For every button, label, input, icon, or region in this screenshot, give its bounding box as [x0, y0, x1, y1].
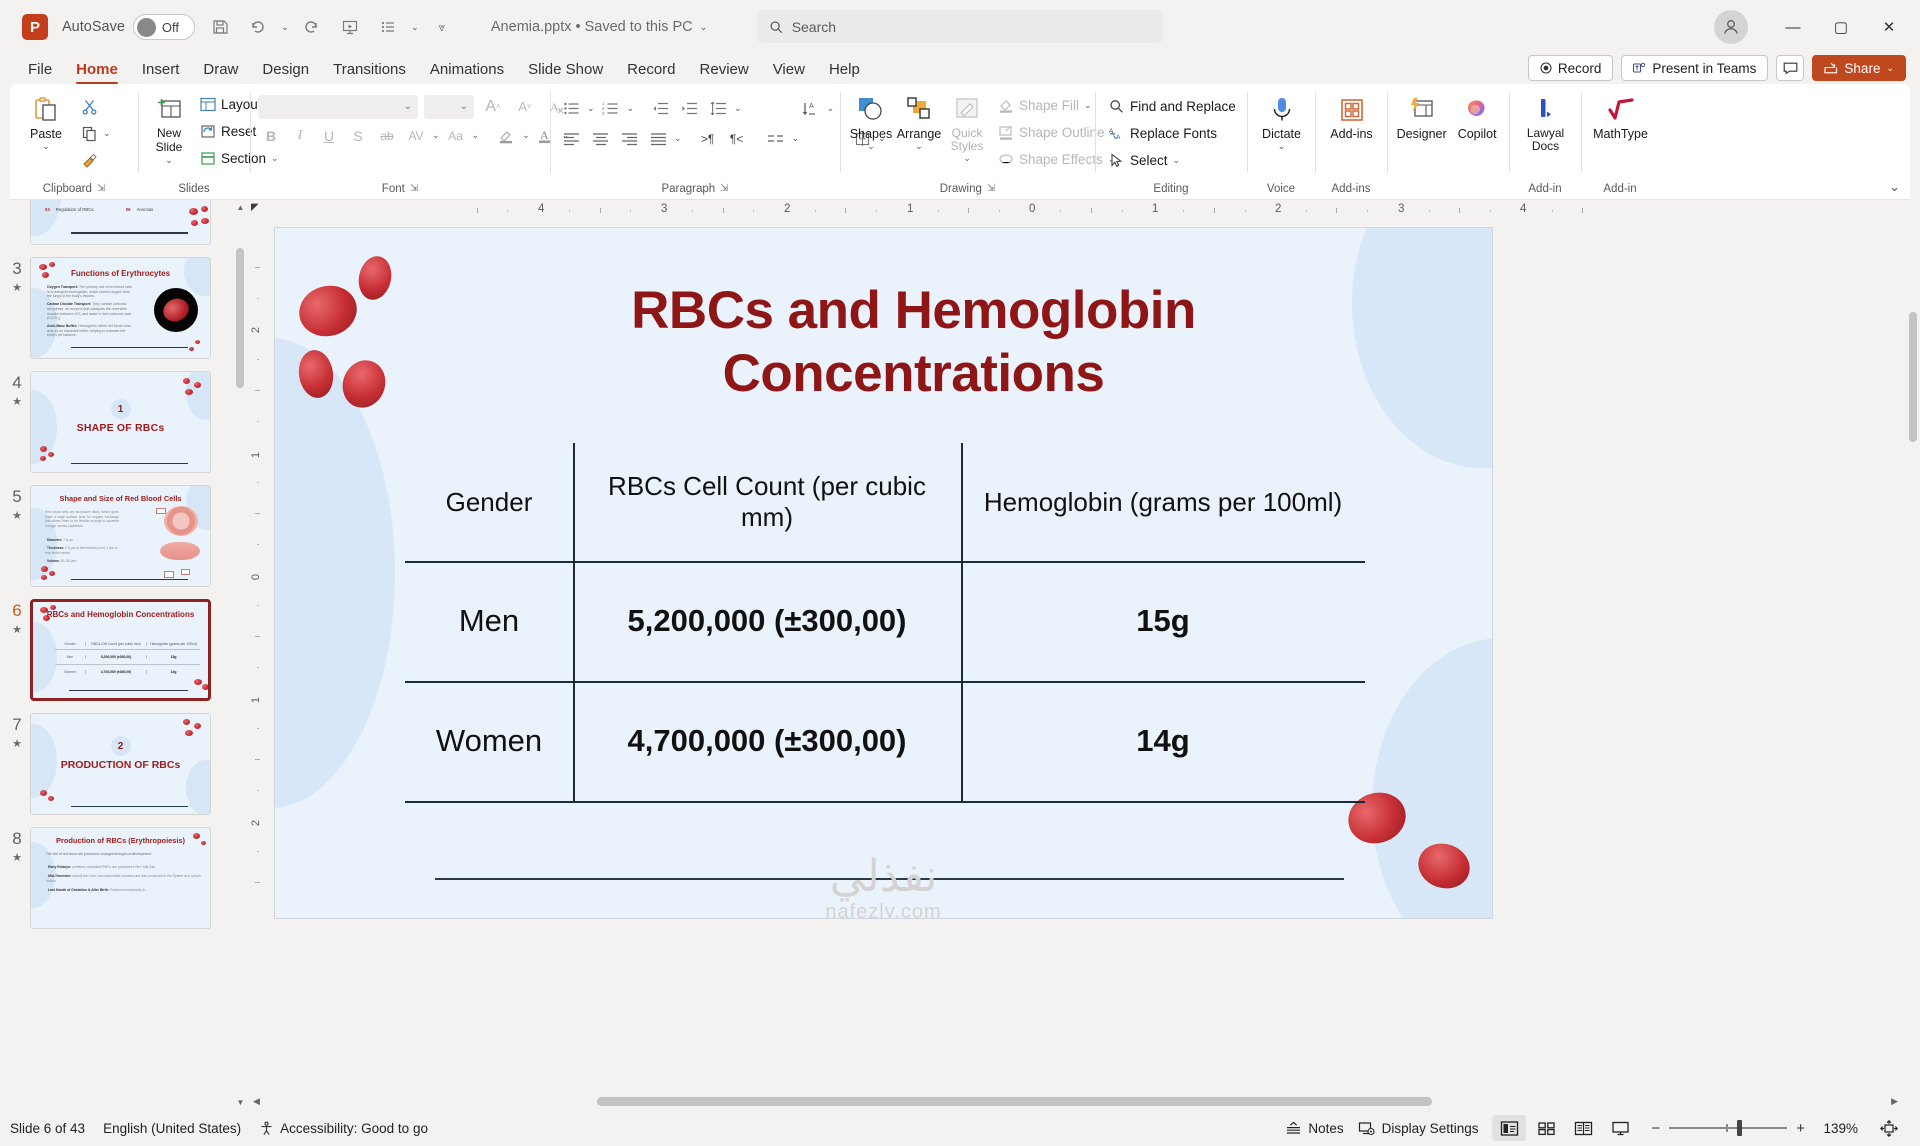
clipboard-dialog-launcher[interactable]: ⇲ [97, 179, 105, 199]
collapse-ribbon-button[interactable]: ⌄ [1889, 179, 1900, 195]
accessibility-indicator[interactable]: Accessibility: Good to go [259, 1121, 428, 1136]
slides-label-text: Slides [178, 179, 209, 199]
thumb8-title: Production of RBCs (Erythropoiesis) [31, 836, 210, 845]
paragraph-dialog-launcher[interactable]: ⇲ [720, 179, 728, 199]
paste-button[interactable]: Paste ⌄ [18, 90, 74, 155]
thumb8-b0-rest: primitive, nucleated RBCs are produced i… [72, 865, 155, 869]
table-header-hemoglobin: Hemoglobin (grams per 100ml) [961, 443, 1365, 561]
thumb5-title: Shape and Size of Red Blood Cells [31, 494, 210, 503]
lawyal-docs-icon [1533, 93, 1559, 127]
font-dialog-launcher[interactable]: ⇲ [410, 179, 418, 199]
arrange-button[interactable]: Arrange ⌄ [896, 90, 942, 155]
dictate-button[interactable]: Dictate ⌄ [1255, 90, 1308, 155]
zoom-track[interactable] [1669, 1127, 1787, 1129]
hruler-mark-2: 2 [784, 203, 790, 215]
text-direction-rtl-icon[interactable]: ¶< [724, 126, 750, 151]
notes-button[interactable]: Notes [1285, 1121, 1343, 1136]
rbc-decoration [355, 253, 395, 303]
find-and-replace-button[interactable]: Find and Replace [1103, 94, 1242, 119]
dictate-label: Dictate [1262, 127, 1301, 141]
record-button[interactable]: Record [1528, 55, 1614, 81]
font-size-combobox[interactable]: ⌄ [424, 95, 474, 119]
thumb3-b1-lead: Carbon Dioxide Transport: [47, 302, 91, 306]
thumb5-b2-lead: Volume: [47, 559, 60, 563]
columns-chevron-icon[interactable]: ⌄ [792, 133, 800, 144]
italic-button[interactable]: I [287, 123, 313, 148]
tab-record[interactable]: Record [615, 61, 687, 84]
share-chevron-icon: ⌄ [1886, 63, 1894, 74]
autosave-state: Off [162, 20, 179, 35]
drawing-label-text: Drawing [940, 179, 982, 199]
slide-thumbnail-pane[interactable]: 2 02 Production of RBCs 05 Formation of … [0, 200, 247, 1110]
tab-help[interactable]: Help [817, 61, 872, 84]
quick-styles-button[interactable]: Quick Styles ⌄ [944, 90, 990, 167]
thumb5-paragraph: Red blood cells are biconcave discs, whi… [45, 510, 119, 528]
font-name-combobox[interactable]: ⌄ [258, 95, 418, 119]
maximize-button[interactable]: ▢ [1818, 7, 1864, 47]
quick-styles-chevron-icon: ⌄ [963, 153, 971, 163]
shape-fill-icon [998, 98, 1014, 113]
tab-insert[interactable]: Insert [130, 61, 192, 84]
hruler-mark-6: 2 [1275, 203, 1281, 215]
language-text: English (United States) [103, 1121, 241, 1136]
shapes-button[interactable]: Shapes ⌄ [848, 90, 894, 155]
hruler-mark-5: 1 [1152, 203, 1158, 215]
teams-icon [1633, 62, 1646, 74]
line-spacing-chevron-icon[interactable]: ⌄ [734, 103, 742, 114]
autosave-toggle[interactable]: Off [133, 14, 195, 40]
present-in-teams-button[interactable]: Present in Teams [1621, 55, 1768, 81]
svg-text:A: A [540, 128, 549, 142]
table-cell-hb-men: 15g [961, 561, 1365, 681]
add-ins-label: Add-ins [1330, 127, 1372, 141]
share-icon [1824, 62, 1838, 75]
replace-fonts-button[interactable]: AA Replace Fonts [1103, 121, 1242, 146]
watermark-arabic: نفذلي [825, 855, 941, 899]
ribbon-group-label-designer [1387, 179, 1509, 199]
customize-quick-access-icon[interactable] [371, 10, 405, 44]
copilot-icon [1462, 93, 1492, 127]
shapes-label: Shapes [850, 127, 892, 141]
slide-editor: ◤ 4 3 2 1 0 1 2 3 4 [247, 200, 1920, 1110]
tab-draw[interactable]: Draw [191, 61, 250, 84]
select-button[interactable]: Select ⌄ [1103, 148, 1242, 173]
ribbon-group-label-editing: Editing [1095, 179, 1247, 199]
designer-icon [1407, 93, 1437, 127]
thumb5-b0-lead: Diameter: [47, 538, 62, 542]
thumbnail-slide-5[interactable]: Shape and Size of Red Blood Cells Red bl… [30, 485, 211, 587]
undo-icon[interactable] [241, 10, 275, 44]
addins-label-text: Add-ins [1332, 179, 1371, 199]
thumbnail-number-6: 6 ★ [4, 599, 30, 636]
strikethrough-button[interactable]: ab [374, 123, 400, 148]
ribbon: Paste ⌄ ⌄ [10, 84, 1910, 200]
shape-effects-icon [998, 152, 1014, 167]
record-circle-icon [1540, 62, 1552, 74]
ribbon-group-label-lawyal: Add-in [1509, 179, 1581, 199]
thumb4-title: SHAPE OF RBCs [31, 422, 210, 434]
thumbnail-star-icon-5: ★ [12, 509, 22, 522]
slide-title-line1: RBCs and Hemoglobin [415, 280, 1412, 343]
hscroll-left-icon[interactable]: ◀ [253, 1096, 260, 1107]
format-painter-icon[interactable] [76, 148, 102, 173]
mathtype-icon [1606, 93, 1636, 127]
normal-view-button[interactable] [1492, 1115, 1526, 1141]
ribbon-group-paragraph: ⌄ 123 ⌄ ⌄ [550, 84, 840, 199]
line-spacing-icon[interactable] [705, 96, 731, 121]
thumb8-b1-lead: Mid-Trimester: [48, 874, 71, 878]
thumbnail-star-icon-8: ★ [12, 851, 22, 864]
tab-design[interactable]: Design [250, 61, 321, 84]
thumbnail-scrollbar[interactable]: ▲ ▼ [233, 200, 247, 1110]
tab-file[interactable]: File [16, 61, 64, 84]
thumbnail-item-3[interactable]: 3 ★ Functions of Erythrocytes Oxygen Tra… [0, 257, 247, 359]
mathtype-label: MathType [1593, 127, 1648, 141]
thumbnail-star-icon-4: ★ [12, 395, 22, 408]
lawyal-group-label-text: Add-in [1528, 179, 1561, 199]
section-icon [200, 151, 216, 166]
select-chevron-icon: ⌄ [1173, 155, 1181, 166]
slide-vscroll-thumb[interactable] [1909, 312, 1917, 442]
quick-styles-icon [952, 93, 982, 127]
powerpoint-window: P AutoSave Off ⌄ ⌄ ⩔ Anemia.pptx • Saved… [0, 0, 1920, 1146]
increase-indent-icon[interactable] [676, 96, 702, 121]
decrease-font-size-icon[interactable]: A˅ [512, 94, 538, 119]
ribbon-group-label-voice: Voice [1247, 179, 1315, 199]
minimize-button[interactable]: — [1770, 7, 1816, 47]
hruler-mark-3: 1 [907, 203, 913, 215]
ribbon-group-lawyal-docs: Lawyal Docs Add-in [1509, 84, 1581, 199]
table-header-count: RBCs Cell Count (per cubic mm) [573, 443, 961, 561]
thumbnail-item-8[interactable]: 8 ★ Production of RBCs (Erythropoiesis) … [0, 827, 247, 929]
display-settings-button[interactable]: Display Settings [1358, 1121, 1479, 1136]
thumbnail-slide-7[interactable]: 2 PRODUCTION OF RBCs [30, 713, 211, 815]
ribbon-group-slides: New Slide ⌄ Layout ⌄ Reset Sec [138, 84, 250, 199]
copilot-button[interactable]: Copilot [1452, 90, 1502, 144]
thumb8-paragraph: The site of red blood cell production ch… [46, 852, 202, 857]
autosave-toggle-knob [137, 18, 156, 37]
watermark: نفذلي nafezly.com [825, 855, 941, 919]
increase-font-size-icon[interactable]: A˄ [480, 94, 506, 119]
thumbnail-slide-4[interactable]: 1 SHAPE OF RBCs [30, 371, 211, 473]
reading-view-button[interactable] [1566, 1115, 1600, 1141]
select-cursor-icon [1109, 153, 1125, 168]
hruler-mark-1: 3 [661, 203, 667, 215]
thumbnail-item-7[interactable]: 7 ★ 2 PRODUCTION OF RBCs [0, 713, 247, 815]
thumbnail-scroll-down-icon[interactable]: ▼ [236, 1098, 245, 1107]
zoom-slider[interactable]: − + 139% [1651, 1120, 1858, 1137]
find-and-replace-label: Find and Replace [1130, 99, 1236, 114]
columns-icon[interactable] [763, 126, 789, 151]
thumb3-b2-lead: Acid–Base Buffer: [47, 324, 77, 328]
document-title[interactable]: Anemia.pptx • Saved to this PC ⌄ [491, 19, 707, 35]
thumbnail-number-3: 3 ★ [4, 257, 30, 294]
shape-effects-label: Shape Effects [1019, 152, 1103, 167]
hscroll-right-icon[interactable]: ▶ [1891, 1096, 1898, 1107]
new-slide-button[interactable]: New Slide ⌄ [146, 90, 192, 168]
shapes-icon [855, 93, 887, 127]
cut-icon[interactable] [76, 94, 102, 119]
paste-chevron-icon: ⌄ [42, 141, 50, 151]
text-direction-ltr-icon[interactable]: >¶ [695, 126, 721, 151]
bullets-chevron-icon[interactable]: ⌄ [587, 103, 595, 114]
horizontal-ruler[interactable]: ◤ 4 3 2 1 0 1 2 3 4 [247, 200, 1920, 222]
thumbnail-scroll-up-icon[interactable]: ▲ [236, 203, 245, 212]
tab-review[interactable]: Review [688, 61, 761, 84]
start-presentation-icon[interactable] [333, 10, 367, 44]
present-in-teams-label: Present in Teams [1652, 61, 1756, 76]
language-indicator[interactable]: English (United States) [103, 1121, 241, 1136]
slide-show-icon [1611, 1120, 1630, 1137]
slide-counter-text: Slide 6 of 43 [10, 1121, 85, 1136]
ribbon-group-font: ⌄ ⌄ A˄ A˅ A B I U S ab [250, 84, 550, 199]
shape-fill-label: Shape Fill [1019, 98, 1079, 113]
character-spacing-chevron-icon[interactable]: ⌄ [432, 130, 440, 141]
display-settings-label: Display Settings [1382, 1121, 1479, 1136]
thumbnail-item-6[interactable]: 6 ★ RBCs and Hemoglobin Concentrations G… [0, 599, 247, 701]
thumb6-r1c0: Women [55, 670, 85, 674]
thumbnail-item-5[interactable]: 5 ★ Shape and Size of Red Blood Cells Re… [0, 485, 247, 587]
vruler-mark-2: 0 [250, 574, 262, 580]
rbc-decoration [294, 279, 363, 342]
share-button[interactable]: Share ⌄ [1812, 55, 1906, 81]
ribbon-tabs: File Home Insert Draw Design Transitions… [0, 54, 1920, 84]
align-right-icon[interactable] [616, 126, 642, 151]
tab-home[interactable]: Home [64, 61, 130, 84]
comments-button[interactable] [1776, 55, 1804, 81]
close-button[interactable]: ✕ [1866, 7, 1912, 47]
replace-fonts-icon: AA [1109, 126, 1125, 141]
search-box[interactable] [758, 10, 1163, 43]
mathtype-group-label-text: Add-in [1603, 179, 1636, 199]
arrange-label: Arrange [897, 127, 941, 141]
arrange-chevron-icon: ⌄ [915, 141, 923, 151]
ribbon-group-drawing: Shapes ⌄ Arrange ⌄ Quick Styles ⌄ [840, 84, 1095, 199]
slide-vertical-scrollbar[interactable] [1906, 222, 1920, 1092]
text-highlight-color-icon[interactable] [493, 123, 519, 148]
thumbnail-slide-3[interactable]: Functions of Erythrocytes Oxygen Transpo… [30, 257, 211, 359]
thumb3-title: Functions of Erythrocytes [31, 269, 210, 278]
display-settings-icon [1358, 1121, 1376, 1136]
designer-button[interactable]: Designer [1395, 90, 1448, 144]
title-bar: P AutoSave Off ⌄ ⌄ ⩔ Anemia.pptx • Saved… [0, 0, 1920, 54]
add-ins-icon [1337, 93, 1367, 127]
ribbon-group-label-drawing: Drawing ⇲ [840, 179, 1095, 199]
zoom-knob[interactable] [1737, 1120, 1742, 1136]
status-bar: Slide 6 of 43 English (United States) Ac… [0, 1110, 1920, 1146]
accessibility-text: Accessibility: Good to go [280, 1121, 428, 1136]
fit-to-window-button[interactable] [1872, 1115, 1906, 1141]
tab-transitions[interactable]: Transitions [321, 61, 418, 84]
thumb6-h2: Hemoglobin (grams per 100ml) [147, 642, 200, 646]
layout-icon [200, 97, 216, 112]
editing-label-text: Editing [1153, 179, 1188, 199]
table-cell-hb-women: 14g [961, 681, 1365, 801]
more-commands-icon[interactable]: ⩔ [425, 10, 459, 44]
change-case-chevron-icon[interactable]: ⌄ [472, 130, 480, 141]
thumb8-b0-lead: Early Embryo: [48, 865, 71, 869]
thumbnail-item-4[interactable]: 4 ★ 1 SHAPE OF RBCs [0, 371, 247, 473]
change-case-button[interactable]: Aa [443, 123, 469, 148]
thumbnail-slide-8[interactable]: Production of RBCs (Erythropoiesis) The … [30, 827, 211, 929]
account-avatar[interactable] [1714, 10, 1748, 44]
bullets-icon[interactable] [558, 96, 584, 121]
tab-view[interactable]: View [761, 61, 817, 84]
thumbnail-number-4: 4 ★ [4, 371, 30, 408]
dictate-chevron-icon: ⌄ [1278, 141, 1286, 151]
thumb7-section-number: 2 [111, 736, 131, 756]
vruler-mark-3: 1 [250, 697, 262, 703]
thumbnail-number-8: 8 ★ [4, 827, 30, 864]
vruler-mark-4: 2 [250, 820, 262, 826]
slide-show-button[interactable] [1603, 1115, 1637, 1141]
search-icon [1109, 99, 1125, 114]
slide-sorter-button[interactable] [1529, 1115, 1563, 1141]
slide-region: 2 1 0 1 2 [247, 222, 1920, 1092]
lawyal-docs-button[interactable]: Lawyal Docs [1517, 90, 1574, 157]
hscroll-track[interactable] [267, 1097, 1884, 1106]
fit-to-window-icon [1880, 1120, 1898, 1137]
zoom-out-button[interactable]: − [1651, 1120, 1660, 1137]
hruler-mark-4: 0 [1029, 203, 1035, 215]
arrange-icon [904, 93, 934, 127]
ribbon-group-label-paragraph: Paragraph ⇲ [550, 179, 840, 199]
document-title-text: Anemia.pptx • Saved to this PC [491, 19, 693, 35]
thumbnail-scroll-thumb[interactable] [236, 248, 244, 388]
slide-title-line2: Concentrations [415, 343, 1412, 406]
table-header-row: Gender RBCs Cell Count (per cubic mm) He… [405, 443, 1365, 561]
tab-slide-show[interactable]: Slide Show [516, 61, 615, 84]
slide-bottom-rule [435, 878, 1344, 880]
numbering-chevron-icon[interactable]: ⌄ [627, 103, 635, 114]
vruler-mark-1: 1 [250, 452, 262, 458]
slide-canvas[interactable]: RBCs and Hemoglobin Concentrations Gend [267, 222, 1920, 1092]
comment-icon [1783, 61, 1798, 75]
slide-table[interactable]: Gender RBCs Cell Count (per cubic mm) He… [405, 443, 1365, 801]
powerpoint-logo: P [22, 14, 48, 40]
svg-text:A: A [1116, 134, 1121, 141]
ribbon-group-label-slides: Slides [138, 179, 250, 199]
document-title-chevron-icon: ⌄ [700, 22, 708, 33]
numbering-icon[interactable]: 123 [598, 96, 624, 121]
ribbon-group-label-font: Font ⇲ [250, 179, 550, 199]
new-slide-chevron-icon: ⌄ [165, 155, 173, 165]
font-label-text: Font [382, 179, 405, 199]
hruler-mark-7: 3 [1398, 203, 1404, 215]
align-left-icon[interactable] [558, 126, 584, 151]
table-row: Women 4,700,000 (±300,00) 14g [405, 681, 1365, 801]
current-slide[interactable]: RBCs and Hemoglobin Concentrations Gend [274, 227, 1493, 919]
shapes-chevron-icon: ⌄ [867, 141, 875, 151]
ribbon-group-designer-copilot: Designer Copilot [1387, 84, 1509, 199]
thumb6-title: RBCs and Hemoglobin Concentrations [33, 610, 208, 620]
watermark-latin: nafezly.com [825, 901, 941, 919]
redo-icon[interactable] [295, 10, 329, 44]
thumb2-item-2: Regulation of RBCs [56, 207, 108, 212]
table-cell-count-women: 4,700,000 (±300,00) [573, 681, 961, 801]
quick-styles-label: Quick Styles [949, 127, 985, 153]
bold-button[interactable]: B [258, 123, 284, 148]
table-cell-gender-women: Women [405, 681, 573, 801]
slide-counter[interactable]: Slide 6 of 43 [10, 1121, 85, 1136]
ribbon-group-clipboard: Paste ⌄ ⌄ [10, 84, 138, 199]
tab-animations[interactable]: Animations [418, 61, 516, 84]
character-spacing-button[interactable]: AV [403, 123, 429, 148]
justify-icon[interactable] [645, 126, 671, 151]
ribbon-group-label-clipboard: Clipboard ⇲ [10, 179, 138, 199]
hruler-mark-8: 4 [1520, 203, 1526, 215]
thumb6-r0c2: 15g [147, 655, 200, 659]
zoom-in-button[interactable]: + [1796, 1120, 1805, 1137]
add-ins-button[interactable]: Add-ins [1323, 90, 1380, 144]
thumbnail-slide-2[interactable]: 02 Production of RBCs 05 Formation of HB… [30, 200, 211, 245]
thumbnail-item-2[interactable]: 2 02 Production of RBCs 05 Formation of … [0, 200, 247, 245]
table-cell-gender-men: Men [405, 561, 573, 681]
notes-label: Notes [1308, 1121, 1343, 1136]
thumb6-r0c0: Men [55, 655, 85, 659]
paragraph-label-text: Paragraph [661, 179, 715, 199]
thumb5-b2-rest: 90–95 µm³ [61, 559, 77, 563]
reset-icon [200, 124, 216, 139]
vruler-mark-0: 2 [250, 327, 262, 333]
copy-chevron-icon[interactable]: ⌄ [103, 128, 111, 139]
text-direction-sort-icon[interactable]: A [798, 96, 824, 121]
microphone-icon [1269, 93, 1295, 127]
ribbon-group-addins: Add-ins Add-ins [1315, 84, 1387, 199]
text-shadow-button[interactable]: S [345, 123, 371, 148]
zoom-midpoint-marker [1726, 1124, 1728, 1132]
thumb5-b0-rest: 7.8 µm [63, 538, 73, 542]
thumb8-b2-rest: Produced exclusively in [110, 888, 145, 892]
paste-icon [31, 93, 61, 127]
hscroll-thumb[interactable] [597, 1097, 1432, 1106]
align-center-icon[interactable] [587, 126, 613, 151]
share-button-label: Share [1844, 61, 1880, 76]
search-input[interactable] [792, 19, 1151, 35]
ribbon-group-voice: Dictate ⌄ Voice [1247, 84, 1315, 199]
thumb4-section-number: 1 [111, 399, 131, 419]
table-header-gender: Gender [405, 443, 573, 561]
copy-icon[interactable] [76, 121, 102, 146]
ribbon-group-editing: Find and Replace AA Replace Fonts Select… [1095, 84, 1247, 199]
notes-icon [1285, 1121, 1302, 1136]
svg-text:3: 3 [602, 111, 605, 116]
undo-dropdown-icon[interactable]: ⌄ [279, 10, 291, 44]
drawing-dialog-launcher[interactable]: ⇲ [987, 179, 995, 199]
quick-access-dropdown-icon[interactable]: ⌄ [409, 10, 421, 44]
thumb6-h1: RBCs Cell Count (per cubic mm) [85, 642, 147, 646]
vertical-ruler[interactable]: 2 1 0 1 2 [247, 222, 267, 1092]
save-icon[interactable] [203, 10, 237, 44]
slide-horizontal-scrollbar[interactable]: ◀ ▶ [247, 1092, 1920, 1110]
copilot-label: Copilot [1458, 127, 1497, 141]
reading-view-icon [1574, 1120, 1593, 1137]
record-button-label: Record [1558, 61, 1602, 76]
underline-button[interactable]: U [316, 123, 342, 148]
thumb2-item-3: Anemias [137, 207, 193, 212]
thumb3-b0-lead: Oxygen Transport: [47, 285, 78, 289]
autosave-label: AutoSave [62, 19, 125, 35]
ribbon-group-label-mathtype: Add-in [1581, 179, 1659, 199]
justify-chevron-icon[interactable]: ⌄ [674, 133, 682, 144]
decrease-indent-icon[interactable] [647, 96, 673, 121]
ribbon-group-label-addins: Add-ins [1315, 179, 1387, 199]
highlight-chevron-icon[interactable]: ⌄ [522, 130, 530, 141]
sort-chevron-icon[interactable]: ⌄ [827, 103, 835, 114]
slide-title[interactable]: RBCs and Hemoglobin Concentrations [415, 280, 1412, 405]
mathtype-button[interactable]: MathType [1589, 90, 1652, 144]
thumbnail-slide-6[interactable]: RBCs and Hemoglobin Concentrations Gende… [30, 599, 211, 701]
